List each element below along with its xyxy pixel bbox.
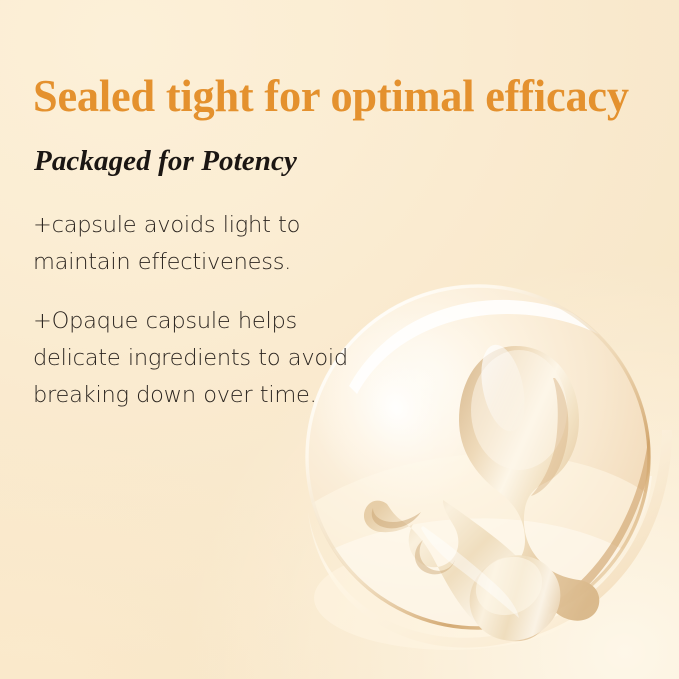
section-subtitle: Packaged for Potency (34, 146, 297, 178)
benefit-paragraph-2: +Opaque capsule helps delicate ingredien… (33, 303, 363, 414)
benefit-paragraph-1: +capsule avoids light to maintain effect… (33, 207, 363, 281)
page-title: Sealed tight for optimal efficacy (33, 74, 663, 120)
benefit-list: +capsule avoids light to maintain effect… (33, 207, 363, 414)
product-benefit-card: Sealed tight for optimal efficacy Packag… (0, 0, 679, 679)
